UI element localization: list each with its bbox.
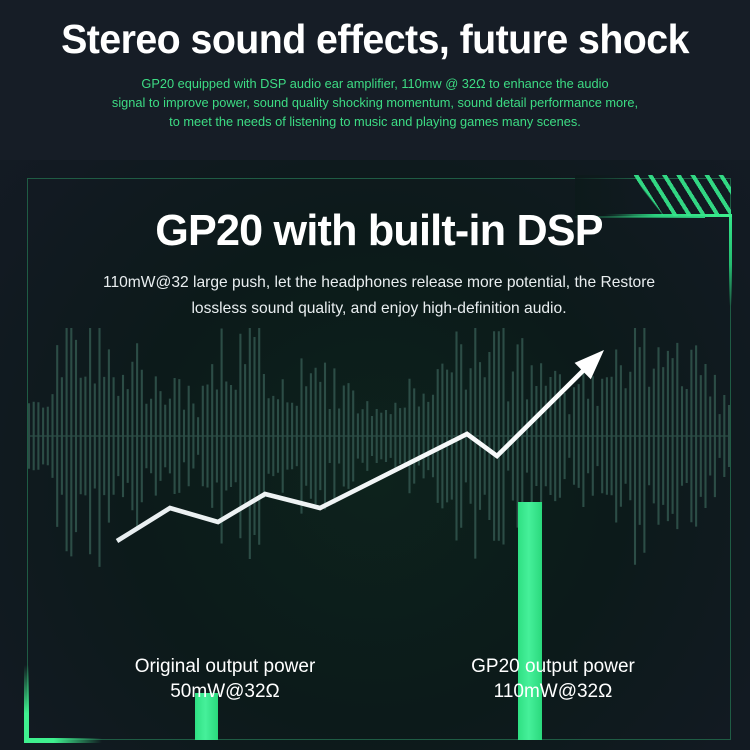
promo-page: Stereo sound effects, future shock GP20 …	[0, 0, 750, 750]
hero-subtitle-line-1: GP20 equipped with DSP audio ear amplifi…	[62, 74, 689, 93]
x-label-gp20-value: 110mW@32Ω	[403, 679, 703, 704]
hero-subtitle-line-3: to meet the needs of listening to music …	[62, 112, 689, 131]
panel-subtitle-line-2: lossless sound quality, and enjoy high-d…	[59, 296, 699, 322]
hero-subtitle-line-2: signal to improve power, sound quality s…	[62, 93, 689, 112]
x-label-original: Original output power 50mW@32Ω	[55, 654, 395, 704]
chart-bars	[195, 502, 542, 740]
panel-right-edge-accent	[729, 214, 732, 306]
hero-section: Stereo sound effects, future shock GP20 …	[0, 0, 750, 160]
panel-subtitle-line-1: 110mW@32 large push, let the headphones …	[59, 270, 699, 296]
bar-gp20-output	[518, 502, 542, 740]
page-title: Stereo sound effects, future shock	[15, 16, 735, 63]
panel-title: GP20 with built-in DSP	[34, 206, 724, 256]
x-label-gp20: GP20 output power 110mW@32Ω	[403, 654, 703, 704]
hero-subtitle: GP20 equipped with DSP audio ear amplifi…	[62, 74, 689, 131]
panel-subtitle: 110mW@32 large push, let the headphones …	[59, 270, 699, 322]
chart-x-labels: Original output power 50mW@32Ω GP20 outp…	[27, 654, 731, 704]
x-label-original-title: Original output power	[55, 654, 395, 679]
x-label-gp20-title: GP20 output power	[403, 654, 703, 679]
x-label-original-value: 50mW@32Ω	[55, 679, 395, 704]
feature-panel: GP20 with built-in DSP 110mW@32 large pu…	[27, 178, 731, 740]
